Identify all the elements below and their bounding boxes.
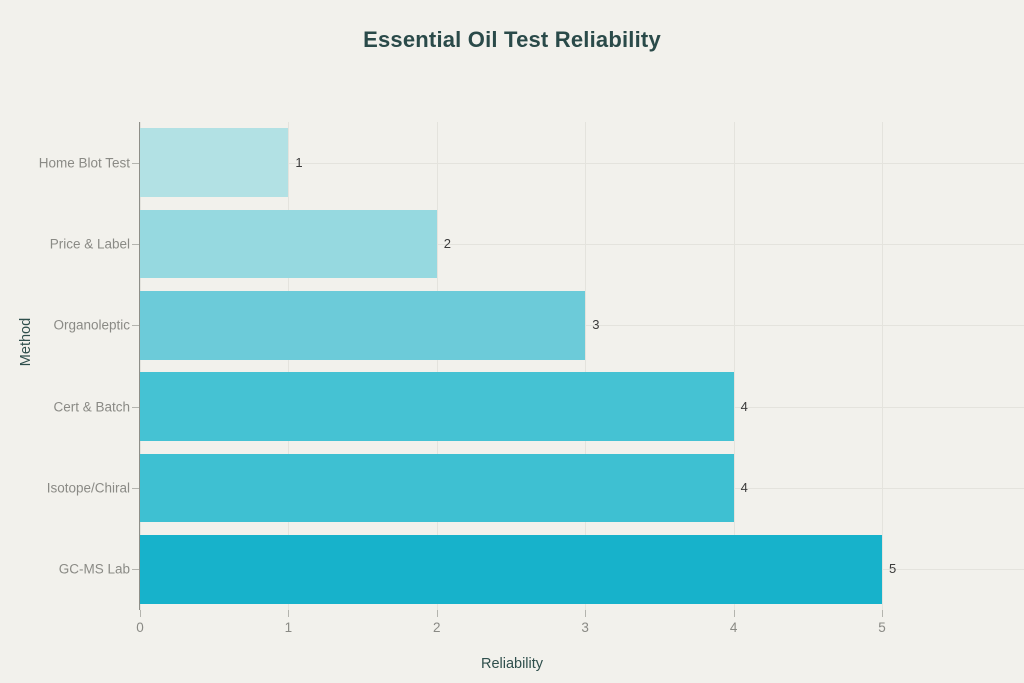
bar-value-label: 4 [741, 480, 748, 495]
chart-container: Essential Oil Test Reliability 123445 Ho… [0, 0, 1024, 683]
bar-value-label: 5 [889, 561, 896, 576]
x-tick-label: 1 [285, 620, 293, 635]
y-tick-mark [132, 244, 139, 245]
y-tick-label: Cert & Batch [53, 399, 130, 414]
plot-area: 123445 [140, 122, 882, 610]
bar[interactable] [140, 454, 734, 523]
x-tick-label: 4 [730, 620, 738, 635]
y-tick-label: Home Blot Test [39, 155, 130, 170]
bar[interactable] [140, 210, 437, 279]
y-tick-label: Price & Label [50, 237, 130, 252]
y-tick-label: Isotope/Chiral [47, 481, 130, 496]
x-axis-title: Reliability [0, 656, 1024, 672]
y-tick-mark [132, 407, 139, 408]
gridline-vertical [882, 122, 883, 610]
x-tick-mark [437, 610, 438, 617]
y-tick-mark [132, 488, 139, 489]
bar[interactable] [140, 291, 585, 360]
bar[interactable] [140, 372, 734, 441]
x-tick-label: 5 [878, 620, 886, 635]
y-tick-mark [132, 569, 139, 570]
x-tick-label: 0 [136, 620, 144, 635]
x-tick-label: 2 [433, 620, 441, 635]
x-tick-mark [882, 610, 883, 617]
bar-value-label: 2 [444, 236, 451, 251]
bar-value-label: 1 [295, 155, 302, 170]
x-tick-mark [734, 610, 735, 617]
x-tick-mark [140, 610, 141, 617]
x-tick-mark [288, 610, 289, 617]
y-tick-label: Organoleptic [53, 318, 130, 333]
y-tick-mark [132, 163, 139, 164]
y-tick-label: GC-MS Lab [59, 562, 130, 577]
y-axis-title: Method [18, 317, 34, 365]
bar-value-label: 4 [741, 399, 748, 414]
x-tick-mark [585, 610, 586, 617]
chart-title: Essential Oil Test Reliability [0, 27, 1024, 53]
bar[interactable] [140, 535, 882, 604]
x-tick-label: 3 [581, 620, 589, 635]
y-tick-mark [132, 325, 139, 326]
bar[interactable] [140, 128, 288, 197]
bar-value-label: 3 [592, 317, 599, 332]
